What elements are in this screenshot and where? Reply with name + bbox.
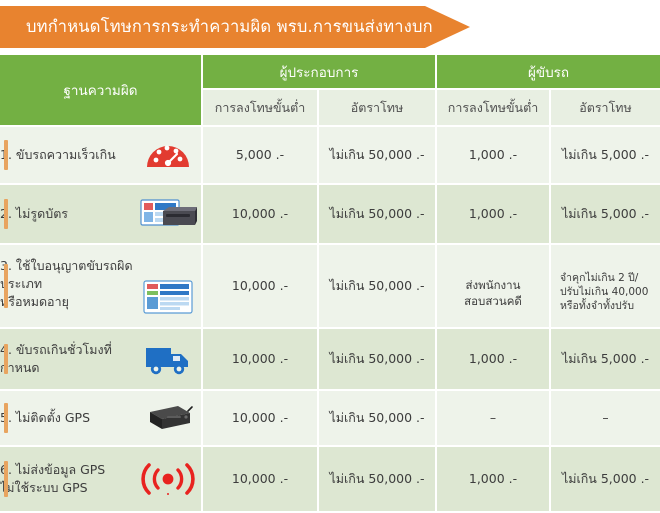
value-operator-min-2: 10,000 .- <box>232 206 288 221</box>
offence-label-4: 4. ขับรถเกินชั่วโมงที่กำหนด <box>0 341 137 377</box>
card-reader-icon <box>137 192 199 236</box>
header-cell-driver-min: การลงโทษขั้นต่ำ <box>436 89 550 126</box>
value-driver-min-5: – <box>490 410 496 425</box>
offence-label-6: 6. ไม่ส่งข้อมูล GPS ไม่ใช้ระบบ GPS <box>0 461 105 497</box>
cell-driver-rate-4: ไม่เกิน 5,000 .- <box>550 328 660 390</box>
cell-operator-min-5: 10,000 .- <box>202 390 318 446</box>
header-operator-min-label: การลงโทษขั้นต่ำ <box>215 100 306 115</box>
table-row: 2. ไม่รูดบัตร <box>0 184 660 244</box>
offence-cell-6: 6. ไม่ส่งข้อมูล GPS ไม่ใช้ระบบ GPS <box>0 446 202 512</box>
cell-operator-min-2: 10,000 .- <box>202 184 318 244</box>
offence-label-1: 1. ขับรถความเร็วเกิน <box>0 146 116 164</box>
infographic-page: บทกำหนดโทษการกระทำความผิด พรบ.การขนส่งทา… <box>0 0 660 482</box>
cell-driver-min-2: 1,000 .- <box>436 184 550 244</box>
cell-driver-rate-5: – <box>550 390 660 446</box>
cell-operator-min-3: 10,000 .- <box>202 244 318 328</box>
penalty-table: ฐานความผิด ผู้ประกอบการ ผู้ขับรถ การลงโท… <box>0 55 660 513</box>
value-driver-rate-4: ไม่เกิน 5,000 .- <box>562 351 649 366</box>
truck-icon <box>137 337 199 381</box>
row-accent-bar <box>4 199 8 229</box>
value-operator-rate-3: ไม่เกิน 50,000 .- <box>329 278 424 293</box>
cell-driver-min-4: 1,000 .- <box>436 328 550 390</box>
value-operator-min-1: 5,000 .- <box>236 147 284 162</box>
offence-label-2: 2. ไม่รูดบัตร <box>0 205 68 223</box>
table-row: 5. ไม่ติดตั้ง GPS 10,000 .- <box>0 390 660 446</box>
speedometer-icon <box>137 133 199 177</box>
value-operator-min-5: 10,000 .- <box>232 410 288 425</box>
row-accent-bar <box>4 344 8 374</box>
value-operator-min-4: 10,000 .- <box>232 351 288 366</box>
offence-cell-5: 5. ไม่ติดตั้ง GPS <box>0 390 202 446</box>
header-cell-driver-rate: อัตราโทษ <box>550 89 660 126</box>
header-operator-rate-label: อัตราโทษ <box>351 100 404 115</box>
offence-cell-2: 2. ไม่รูดบัตร <box>0 184 202 244</box>
value-driver-rate-6: ไม่เกิน 5,000 .- <box>562 471 649 486</box>
value-operator-rate-1: ไม่เกิน 50,000 .- <box>329 147 424 162</box>
value-operator-min-3: 10,000 .- <box>232 278 288 293</box>
offence-cell-4: 4. ขับรถเกินชั่วโมงที่กำหนด <box>0 328 202 390</box>
cell-driver-rate-6: ไม่เกิน 5,000 .- <box>550 446 660 512</box>
row-accent-bar <box>4 403 8 433</box>
table-row: 3. ใช้ใบอนุญาตขับรถผิดประเภท หรือหมดอายุ <box>0 244 660 328</box>
header-driver-min-label: การลงโทษขั้นต่ำ <box>448 100 539 115</box>
header-driver-rate-label: อัตราโทษ <box>579 100 632 115</box>
header-cell-operator-group: ผู้ประกอบการ <box>202 55 436 89</box>
cell-operator-rate-3: ไม่เกิน 50,000 .- <box>318 244 436 328</box>
title-banner: บทกำหนดโทษการกระทำความผิด พรบ.การขนส่งทา… <box>0 6 470 48</box>
cell-driver-rate-2: ไม่เกิน 5,000 .- <box>550 184 660 244</box>
value-driver-min-4: 1,000 .- <box>469 351 517 366</box>
table-row: 1. ขับรถความเร็วเกิน <box>0 126 660 184</box>
cell-operator-rate-2: ไม่เกิน 50,000 .- <box>318 184 436 244</box>
cell-driver-min-1: 1,000 .- <box>436 126 550 184</box>
offence-cell-1: 1. ขับรถความเร็วเกิน <box>0 126 202 184</box>
cell-operator-min-6: 10,000 .- <box>202 446 318 512</box>
value-driver-rate-2: ไม่เกิน 5,000 .- <box>562 206 649 221</box>
value-operator-rate-5: ไม่เกิน 50,000 .- <box>329 410 424 425</box>
cell-operator-min-1: 5,000 .- <box>202 126 318 184</box>
table-row: 6. ไม่ส่งข้อมูล GPS ไม่ใช้ระบบ GPS <box>0 446 660 512</box>
header-operator-label: ผู้ประกอบการ <box>280 65 359 81</box>
value-driver-min-3: ส่งพนักงาน สอบสวนคดี <box>464 278 522 308</box>
row-accent-bar <box>4 461 8 497</box>
header-basis-label: ฐานความผิด <box>63 83 137 99</box>
page-title: บทกำหนดโทษการกระทำความผิด พรบ.การขนส่งทา… <box>0 19 433 36</box>
cell-driver-rate-1: ไม่เกิน 5,000 .- <box>550 126 660 184</box>
cell-driver-min-5: – <box>436 390 550 446</box>
value-operator-rate-4: ไม่เกิน 50,000 .- <box>329 351 424 366</box>
cell-operator-rate-1: ไม่เกิน 50,000 .- <box>318 126 436 184</box>
header-cell-basis: ฐานความผิด <box>0 55 202 126</box>
cell-driver-min-3: ส่งพนักงาน สอบสวนคดี <box>436 244 550 328</box>
value-driver-rate-3: จำคุกไม่เกิน 2 ปี/ ปรับไม่เกิน 40,000 หร… <box>560 272 648 311</box>
offence-cell-3: 3. ใช้ใบอนุญาตขับรถผิดประเภท หรือหมดอายุ <box>0 244 202 328</box>
table-header-group-row: ฐานความผิด ผู้ประกอบการ ผู้ขับรถ <box>0 55 660 89</box>
offence-label-5: 5. ไม่ติดตั้ง GPS <box>0 409 90 427</box>
header-driver-label: ผู้ขับรถ <box>528 65 569 81</box>
table-row: 4. ขับรถเกินชั่วโมงที่กำหนด <box>0 328 660 390</box>
row-accent-bar <box>4 140 8 170</box>
value-driver-rate-5: – <box>602 410 608 425</box>
cell-operator-rate-4: ไม่เกิน 50,000 .- <box>318 328 436 390</box>
value-driver-min-6: 1,000 .- <box>469 471 517 486</box>
offence-label-3: 3. ใช้ใบอนุญาตขับรถผิดประเภท หรือหมดอายุ <box>0 257 137 311</box>
value-driver-rate-1: ไม่เกิน 5,000 .- <box>562 147 649 162</box>
value-operator-rate-6: ไม่เกิน 50,000 .- <box>329 471 424 486</box>
value-driver-min-1: 1,000 .- <box>469 147 517 162</box>
value-operator-rate-2: ไม่เกิน 50,000 .- <box>329 206 424 221</box>
header-cell-operator-min: การลงโทษขั้นต่ำ <box>202 89 318 126</box>
row-accent-bar <box>4 264 8 308</box>
cell-driver-min-6: 1,000 .- <box>436 446 550 512</box>
title-banner-shape: บทกำหนดโทษการกระทำความผิด พรบ.การขนส่งทา… <box>0 6 470 48</box>
header-cell-driver-group: ผู้ขับรถ <box>436 55 660 89</box>
cell-operator-rate-6: ไม่เกิน 50,000 .- <box>318 446 436 512</box>
cell-operator-rate-5: ไม่เกิน 50,000 .- <box>318 390 436 446</box>
cell-driver-rate-3: จำคุกไม่เกิน 2 ปี/ ปรับไม่เกิน 40,000 หร… <box>550 244 660 328</box>
header-cell-operator-rate: อัตราโทษ <box>318 89 436 126</box>
cell-operator-min-4: 10,000 .- <box>202 328 318 390</box>
gps-signal-icon <box>137 457 199 501</box>
drivers-license-icon <box>137 275 199 319</box>
gps-device-icon <box>137 396 199 440</box>
value-operator-min-6: 10,000 .- <box>232 471 288 486</box>
value-driver-min-2: 1,000 .- <box>469 206 517 221</box>
